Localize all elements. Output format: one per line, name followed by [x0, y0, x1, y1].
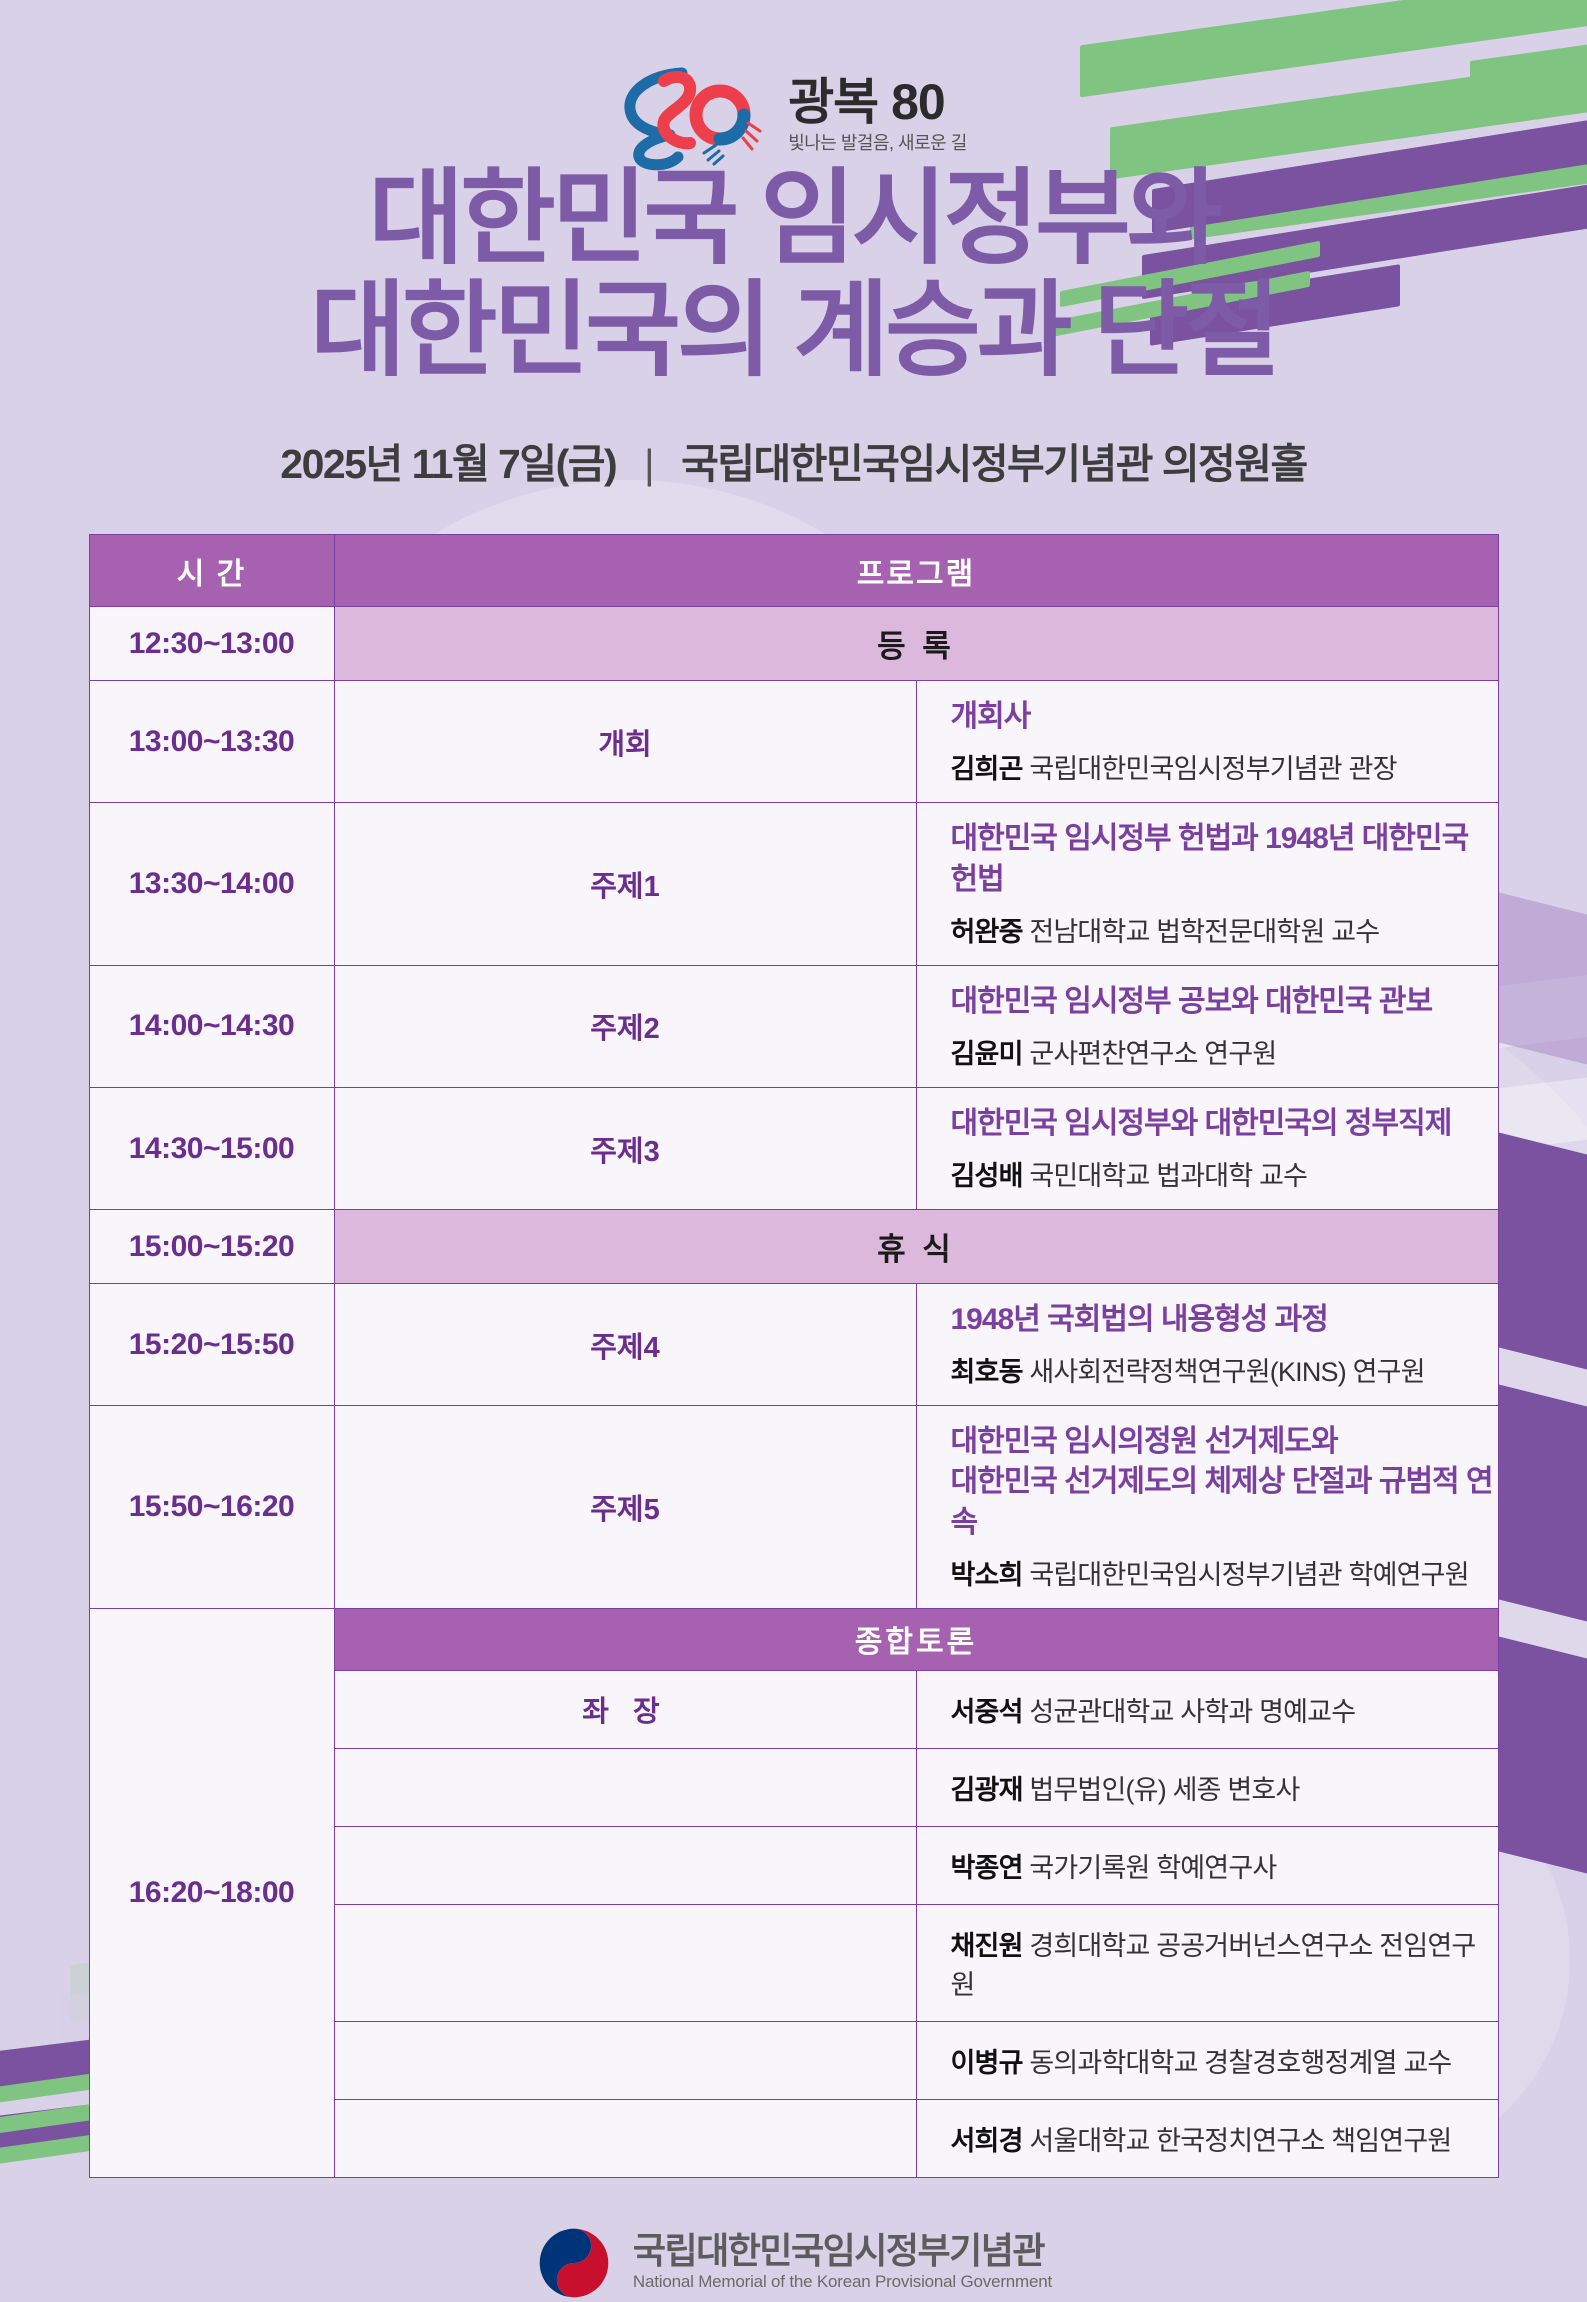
row-speaker: 박소희 국립대한민국임시정부기념관 학예연구원	[951, 1553, 1498, 1592]
row-tag: 주제3	[334, 1087, 916, 1209]
row-body: 박종연 국가기록원 학예연구사	[916, 1826, 1498, 1904]
row-time: 15:50~16:20	[89, 1406, 334, 1609]
speaker-name: 박종연	[951, 1853, 1023, 1883]
speaker-affiliation: 법무법인(유) 세종 변호사	[1029, 1775, 1299, 1805]
row-topic: 대한민국 임시정부 공보와 대한민국 관보	[951, 982, 1498, 1022]
row-time: 13:00~13:30	[89, 681, 334, 803]
panelist: 박종연 국가기록원 학예연구사	[951, 1846, 1498, 1885]
speaker-name: 최호동	[951, 1357, 1023, 1387]
speaker-name: 김희곤	[951, 754, 1023, 784]
row-time: 14:00~14:30	[89, 965, 334, 1087]
speaker-name: 서중석	[951, 1697, 1023, 1727]
speaker-affiliation: 국립대한민국임시정부기념관 관장	[1029, 754, 1396, 784]
speaker-affiliation: 국민대학교 법과대학 교수	[1029, 1161, 1307, 1191]
row-time: 13:30~14:00	[89, 803, 334, 965]
row-topic: 1948년 국회법의 내용형성 과정	[951, 1300, 1498, 1340]
speaker-name: 김성배	[951, 1161, 1023, 1191]
row-topic-line1: 대한민국 임시의정원 선거제도와	[951, 1422, 1498, 1462]
program-table-wrapper: 시 간 프로그램 12:30~13:00 등 록 13:00~13:30 개회 …	[89, 534, 1499, 2178]
row-time: 15:00~15:20	[89, 1210, 334, 1284]
footer-english-name: National Memorial of the Korean Provisio…	[633, 2272, 1052, 2292]
row-speaker: 김성배 국민대학교 법과대학 교수	[951, 1154, 1498, 1193]
gwangbok-logo-text: 광복 80 빛나는 발걸음, 새로운 길	[788, 77, 967, 155]
poster-title: 대한민국 임시정부와 대한민국의 계승과 단절	[0, 166, 1587, 384]
table-row: 13:00~13:30 개회 개회사 김희곤 국립대한민국임시정부기념관 관장	[89, 681, 1498, 803]
table-header-row: 시 간 프로그램	[89, 535, 1498, 607]
panelist-spacer	[334, 2099, 916, 2177]
row-band-label: 휴 식	[334, 1210, 1498, 1284]
poster-page: 광복 80 빛나는 발걸음, 새로운 길 대한민국 임시정부와 대한민국의 계승…	[0, 0, 1587, 2245]
panelist-spacer	[334, 1826, 916, 1904]
discussion-header: 종합토론	[334, 1608, 1498, 1670]
header-program: 프로그램	[334, 535, 1498, 607]
speaker-affiliation: 전남대학교 법학전문대학원 교수	[1029, 917, 1379, 947]
row-tag: 주제1	[334, 803, 916, 965]
speaker-name: 채진원	[951, 1931, 1023, 1961]
event-venue: 국립대한민국임시정부기념관 의정원홀	[681, 441, 1307, 487]
row-topic-line2: 대한민국 선거제도의 체제상 단절과 규범적 연속	[951, 1462, 1498, 1542]
gwangbok-80-emblem-icon	[620, 61, 770, 171]
footer-korean-name: 국립대한민국임시정부기념관	[633, 2233, 1052, 2269]
row-band-label: 등 록	[334, 607, 1498, 681]
table-row: 15:00~15:20 휴 식	[89, 1210, 1498, 1284]
speaker-name: 이병규	[951, 2048, 1023, 2078]
table-row: 15:20~15:50 주제4 1948년 국회법의 내용형성 과정 최호동 새…	[89, 1284, 1498, 1406]
row-body: 김광재 법무법인(유) 세종 변호사	[916, 1748, 1498, 1826]
discussion-time: 16:20~18:00	[89, 1608, 334, 2177]
row-body: 이병규 동의과학대학교 경찰경호행정계열 교수	[916, 2021, 1498, 2099]
taeguk-icon	[535, 2224, 613, 2302]
row-body: 대한민국 임시의정원 선거제도와 대한민국 선거제도의 체제상 단절과 규범적 …	[916, 1406, 1498, 1609]
row-tag: 주제2	[334, 965, 916, 1087]
row-speaker: 최호동 새사회전략정책연구원(KINS) 연구원	[951, 1350, 1498, 1389]
speaker-affiliation: 동의과학대학교 경찰경호행정계열 교수	[1029, 2048, 1451, 2078]
row-body: 채진원 경희대학교 공공거버넌스연구소 전임연구원	[916, 1904, 1498, 2021]
row-topic: 대한민국 임시정부 헌법과 1948년 대한민국 헌법	[951, 819, 1498, 899]
speaker-name: 허완중	[951, 917, 1023, 947]
gwangbok-logo-block: 광복 80 빛나는 발걸음, 새로운 길	[0, 0, 1587, 120]
row-speaker: 허완중 전남대학교 법학전문대학원 교수	[951, 910, 1498, 949]
row-topic: 개회사	[951, 697, 1498, 737]
speaker-affiliation: 서울대학교 한국정치연구소 책임연구원	[1029, 2126, 1451, 2156]
program-table-head: 시 간 프로그램	[89, 535, 1498, 607]
table-row: 13:30~14:00 주제1 대한민국 임시정부 헌법과 1948년 대한민국…	[89, 803, 1498, 965]
row-time: 12:30~13:00	[89, 607, 334, 681]
panelist: 이병규 동의과학대학교 경찰경호행정계열 교수	[951, 2041, 1498, 2080]
event-date: 2025년 11월 7일(금)	[280, 441, 616, 487]
speaker-affiliation: 새사회전략정책연구원(KINS) 연구원	[1029, 1357, 1424, 1387]
poster-title-line2: 대한민국의 계승과 단절	[0, 278, 1587, 384]
table-row: 14:00~14:30 주제2 대한민국 임시정부 공보와 대한민국 관보 김윤…	[89, 965, 1498, 1087]
speaker-affiliation: 군사편찬연구소 연구원	[1029, 1039, 1276, 1069]
chair-speaker: 서중석 성균관대학교 사학과 명예교수	[951, 1690, 1498, 1729]
speaker-affiliation: 국립대한민국임시정부기념관 학예연구원	[1029, 1560, 1468, 1590]
speaker-name: 박소희	[951, 1560, 1023, 1590]
chair-label: 좌 장	[334, 1670, 916, 1748]
panelist-spacer	[334, 1748, 916, 1826]
row-speaker: 김희곤 국립대한민국임시정부기념관 관장	[951, 747, 1498, 786]
row-body: 개회사 김희곤 국립대한민국임시정부기념관 관장	[916, 681, 1498, 803]
panelist-spacer	[334, 2021, 916, 2099]
speaker-affiliation: 경희대학교 공공거버넌스연구소 전임연구원	[951, 1931, 1476, 2000]
program-table-body: 12:30~13:00 등 록 13:00~13:30 개회 개회사 김희곤 국…	[89, 607, 1498, 2178]
table-row: 15:50~16:20 주제5 대한민국 임시의정원 선거제도와 대한민국 선거…	[89, 1406, 1498, 1609]
poster-title-line1: 대한민국 임시정부와	[368, 161, 1218, 277]
row-body: 대한민국 임시정부 공보와 대한민국 관보 김윤미 군사편찬연구소 연구원	[916, 965, 1498, 1087]
row-time: 14:30~15:00	[89, 1087, 334, 1209]
program-table: 시 간 프로그램 12:30~13:00 등 록 13:00~13:30 개회 …	[89, 534, 1499, 2178]
row-body: 대한민국 임시정부와 대한민국의 정부직제 김성배 국민대학교 법과대학 교수	[916, 1087, 1498, 1209]
speaker-affiliation: 국가기록원 학예연구사	[1029, 1853, 1276, 1883]
event-meta: 2025년 11월 7일(금) | 국립대한민국임시정부기념관 의정원홀	[0, 430, 1587, 490]
row-time: 15:20~15:50	[89, 1284, 334, 1406]
speaker-name: 서희경	[951, 2126, 1023, 2156]
table-row: 12:30~13:00 등 록	[89, 607, 1498, 681]
row-body: 서중석 성균관대학교 사학과 명예교수	[916, 1670, 1498, 1748]
panelist: 서희경 서울대학교 한국정치연구소 책임연구원	[951, 2119, 1498, 2158]
row-body: 대한민국 임시정부 헌법과 1948년 대한민국 헌법 허완중 전남대학교 법학…	[916, 803, 1498, 965]
speaker-affiliation: 성균관대학교 사학과 명예교수	[1029, 1697, 1355, 1727]
panelist: 채진원 경희대학교 공공거버넌스연구소 전임연구원	[951, 1924, 1498, 2002]
row-tag: 주제4	[334, 1284, 916, 1406]
gwangbok-logo-tagline: 빛나는 발걸음, 새로운 길	[788, 129, 967, 155]
panelist-spacer	[334, 1904, 916, 2021]
row-topic: 대한민국 임시정부와 대한민국의 정부직제	[951, 1104, 1498, 1144]
row-tag: 주제5	[334, 1406, 916, 1609]
row-body: 1948년 국회법의 내용형성 과정 최호동 새사회전략정책연구원(KINS) …	[916, 1284, 1498, 1406]
row-speaker: 김윤미 군사편찬연구소 연구원	[951, 1032, 1498, 1071]
meta-separator: |	[626, 441, 671, 487]
row-tag: 개회	[334, 681, 916, 803]
speaker-name: 김윤미	[951, 1039, 1023, 1069]
gwangbok-logo-title: 광복 80	[788, 77, 967, 127]
speaker-name: 김광재	[951, 1775, 1023, 1805]
panelist: 김광재 법무법인(유) 세종 변호사	[951, 1768, 1498, 1807]
header-time: 시 간	[89, 535, 334, 607]
row-body: 서희경 서울대학교 한국정치연구소 책임연구원	[916, 2099, 1498, 2177]
table-row: 16:20~18:00 종합토론	[89, 1608, 1498, 1670]
footer-text: 국립대한민국임시정부기념관 National Memorial of the K…	[633, 2233, 1052, 2292]
footer-logo-block: 국립대한민국임시정부기념관 National Memorial of the K…	[0, 2224, 1587, 2302]
table-row: 14:30~15:00 주제3 대한민국 임시정부와 대한민국의 정부직제 김성…	[89, 1087, 1498, 1209]
